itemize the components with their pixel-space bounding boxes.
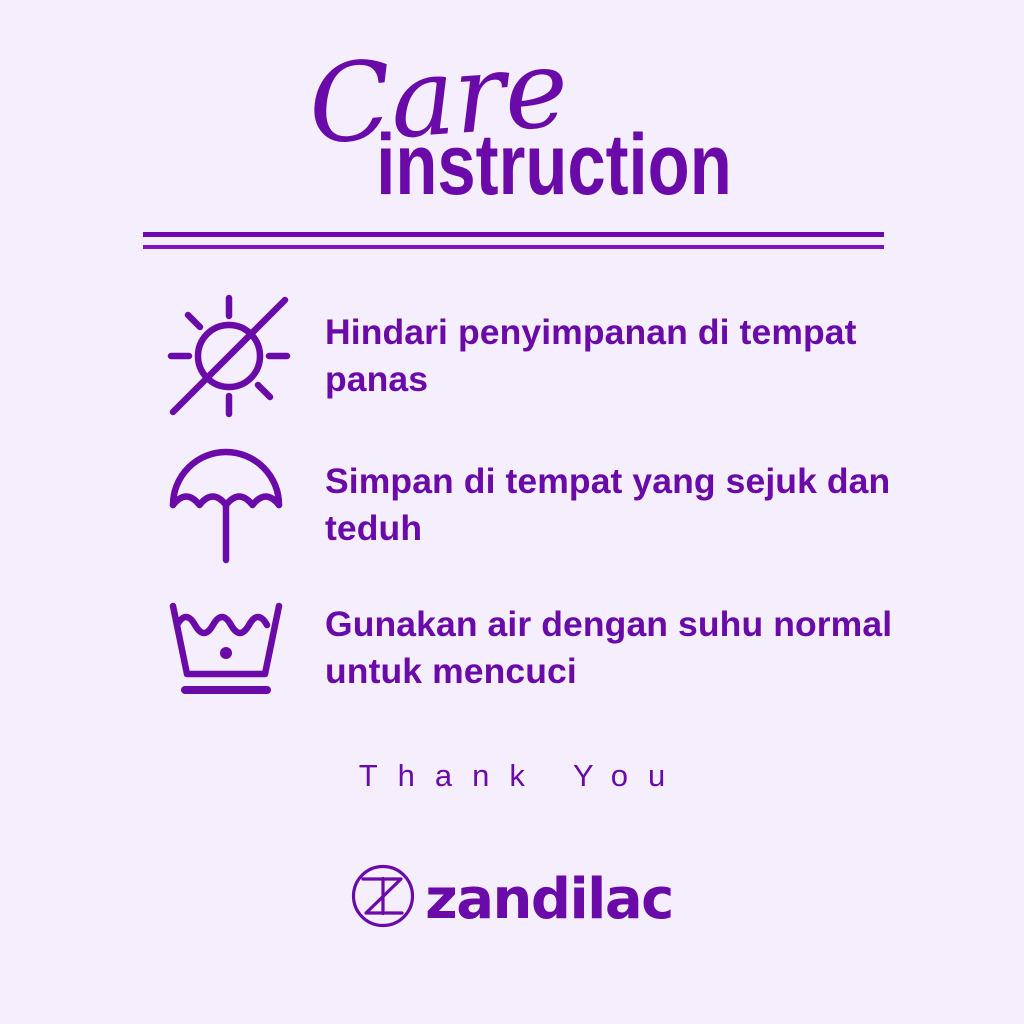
instruction-item: Hindari penyimpanan di tempat panas — [165, 282, 905, 430]
instruction-text: Hindari penyimpanan di tempat panas — [315, 309, 905, 403]
umbrella-icon — [165, 444, 315, 566]
divider-line-bottom — [143, 245, 884, 249]
header-divider — [143, 232, 884, 252]
instruction-list: Hindari penyimpanan di tempat panas Simp… — [165, 282, 905, 715]
header: Care instruction — [0, 0, 1024, 268]
no-sun-heat-icon — [165, 292, 315, 420]
wash-tub-normal-temperature-icon — [165, 598, 315, 698]
thank-you-text: Thank You — [0, 758, 1024, 794]
page-title-block: instruction — [144, 122, 963, 208]
instruction-text: Simpan di tempat yang sejuk dan teduh — [315, 458, 905, 552]
brand-logo: zandilac — [0, 864, 1024, 933]
divider-line-top — [143, 232, 884, 237]
instruction-text: Gunakan air dengan suhu normal untuk men… — [315, 601, 905, 695]
instruction-item: Simpan di tempat yang sejuk dan teduh — [165, 430, 905, 580]
instruction-item: Gunakan air dengan suhu normal untuk men… — [165, 580, 905, 715]
care-instruction-card: Care instruction Hindari — [0, 0, 1024, 1024]
z-monogram-circle-icon — [351, 864, 415, 933]
brand-wordmark: zandilac — [425, 872, 673, 928]
